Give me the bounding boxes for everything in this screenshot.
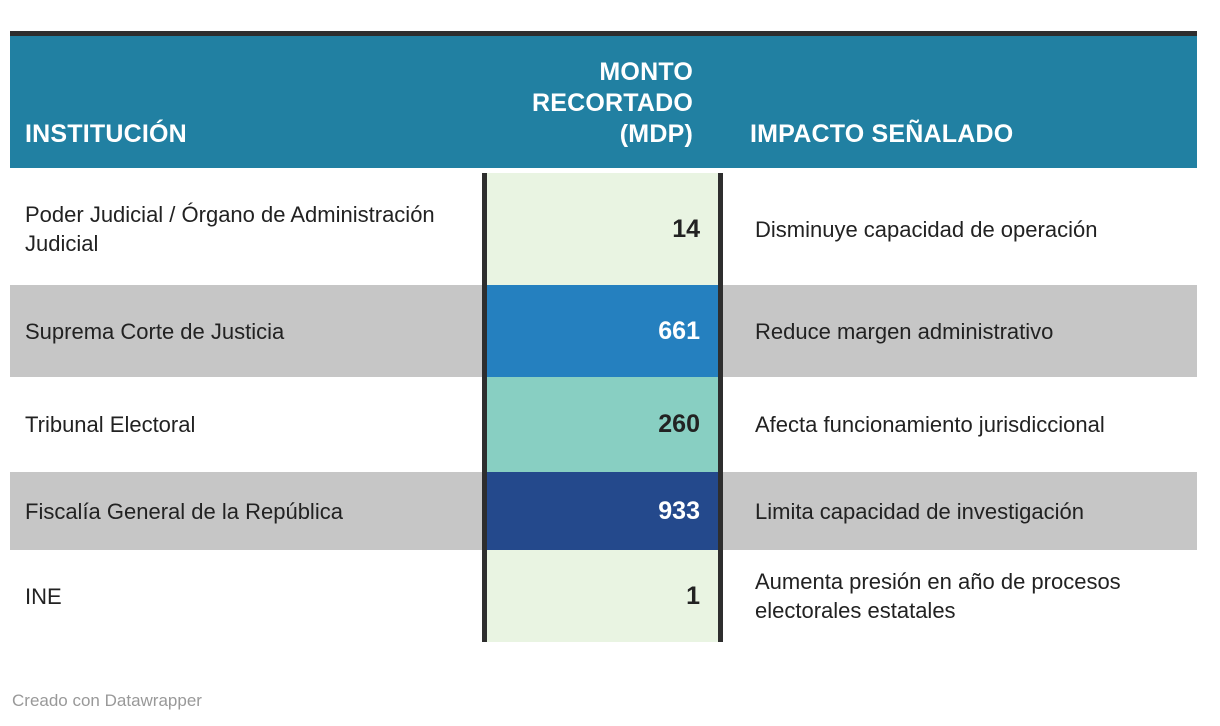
- table-row[interactable]: INE1Aumenta presión en año de procesos e…: [0, 550, 1220, 642]
- cell-institucion: INE: [10, 550, 482, 642]
- cell-impacto: Aumenta presión en año de procesos elect…: [723, 550, 1197, 642]
- monto-value: 260: [658, 410, 700, 439]
- cell-institucion: Suprema Corte de Justicia: [10, 285, 482, 377]
- impacto-text: Afecta funcionamiento jurisdiccional: [755, 410, 1105, 439]
- impacto-text: Aumenta presión en año de procesos elect…: [755, 567, 1187, 625]
- institucion-text: Suprema Corte de Justicia: [25, 317, 284, 346]
- institucion-text: INE: [25, 582, 62, 611]
- cell-impacto: Disminuye capacidad de operación: [723, 173, 1197, 285]
- institucion-text: Fiscalía General de la República: [25, 497, 343, 526]
- monto-value: 933: [658, 497, 700, 526]
- cell-institucion: Poder Judicial / Órgano de Administració…: [10, 173, 482, 285]
- cell-impacto: Afecta funcionamiento jurisdiccional: [723, 377, 1197, 472]
- cell-monto-recortado: 1: [482, 550, 723, 642]
- column-header-institucion: INSTITUCIÓN: [25, 119, 187, 150]
- table-body: Poder Judicial / Órgano de Administració…: [0, 173, 1220, 642]
- column-header-impacto: IMPACTO SEÑALADO: [750, 119, 1013, 150]
- monto-value: 14: [672, 215, 700, 244]
- table-row[interactable]: Poder Judicial / Órgano de Administració…: [0, 173, 1220, 285]
- cell-impacto: Limita capacidad de investigación: [723, 472, 1197, 550]
- table-row[interactable]: Fiscalía General de la República933Limit…: [0, 472, 1220, 550]
- datawrapper-table: INSTITUCIÓN MONTO RECORTADO (MDP) IMPACT…: [0, 0, 1220, 726]
- impacto-text: Limita capacidad de investigación: [755, 497, 1084, 526]
- institucion-text: Tribunal Electoral: [25, 410, 195, 439]
- table-header-row: INSTITUCIÓN MONTO RECORTADO (MDP) IMPACT…: [10, 31, 1197, 168]
- monto-value: 1: [686, 582, 700, 611]
- table-row[interactable]: Suprema Corte de Justicia661Reduce marge…: [0, 285, 1220, 377]
- table-row[interactable]: Tribunal Electoral260Afecta funcionamien…: [0, 377, 1220, 472]
- monto-value: 661: [658, 317, 700, 346]
- cell-monto-recortado: 933: [482, 472, 723, 550]
- cell-impacto: Reduce margen administrativo: [723, 285, 1197, 377]
- cell-monto-recortado: 14: [482, 173, 723, 285]
- datawrapper-credit[interactable]: Creado con Datawrapper: [12, 690, 202, 712]
- impacto-text: Disminuye capacidad de operación: [755, 215, 1097, 244]
- institucion-text: Poder Judicial / Órgano de Administració…: [25, 200, 470, 258]
- cell-monto-recortado: 260: [482, 377, 723, 472]
- cell-monto-recortado: 661: [482, 285, 723, 377]
- column-header-monto-recortado: MONTO RECORTADO (MDP): [250, 57, 693, 150]
- cell-institucion: Fiscalía General de la República: [10, 472, 482, 550]
- impacto-text: Reduce margen administrativo: [755, 317, 1053, 346]
- cell-institucion: Tribunal Electoral: [10, 377, 482, 472]
